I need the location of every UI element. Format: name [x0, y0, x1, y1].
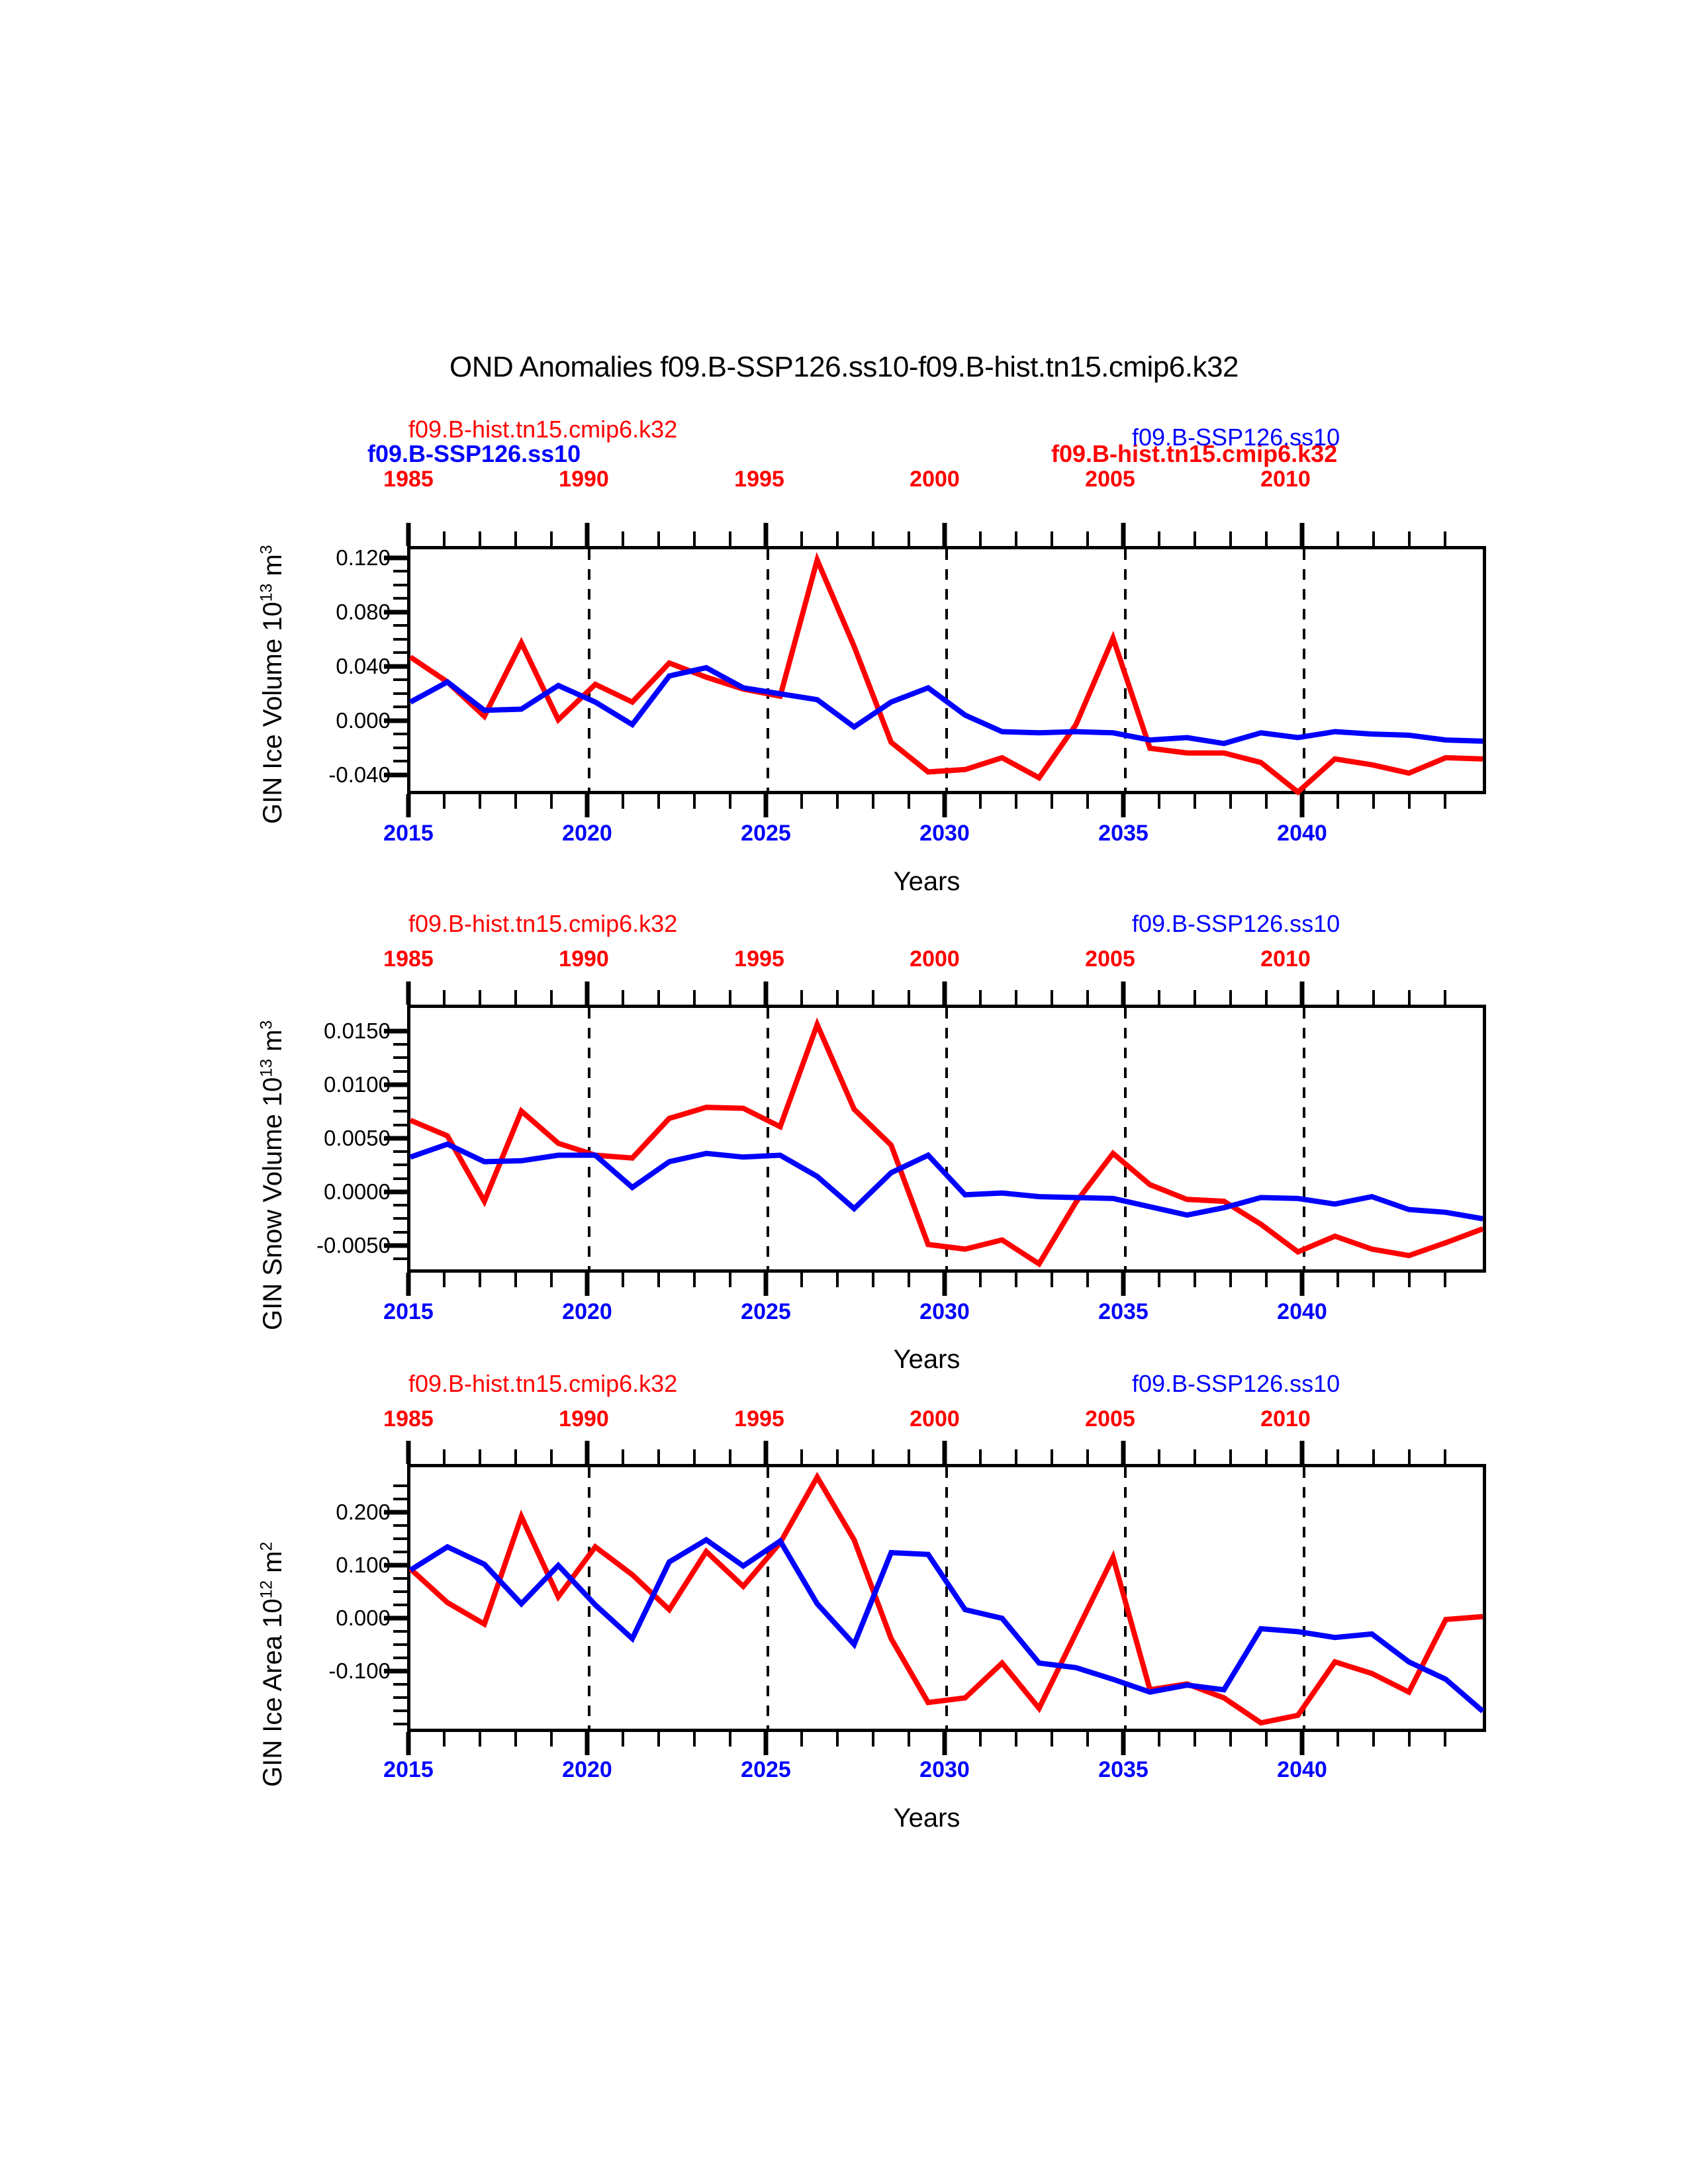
tick-marks-overlay	[0, 0, 1688, 2184]
ticks-panel3	[384, 1441, 1445, 1755]
figure-canvas: OND Anomalies f09.B-SSP126.ss10-f09.B-hi…	[0, 0, 1688, 2184]
ticks-panel1	[384, 523, 1445, 817]
ticks-panel2	[384, 981, 1445, 1296]
